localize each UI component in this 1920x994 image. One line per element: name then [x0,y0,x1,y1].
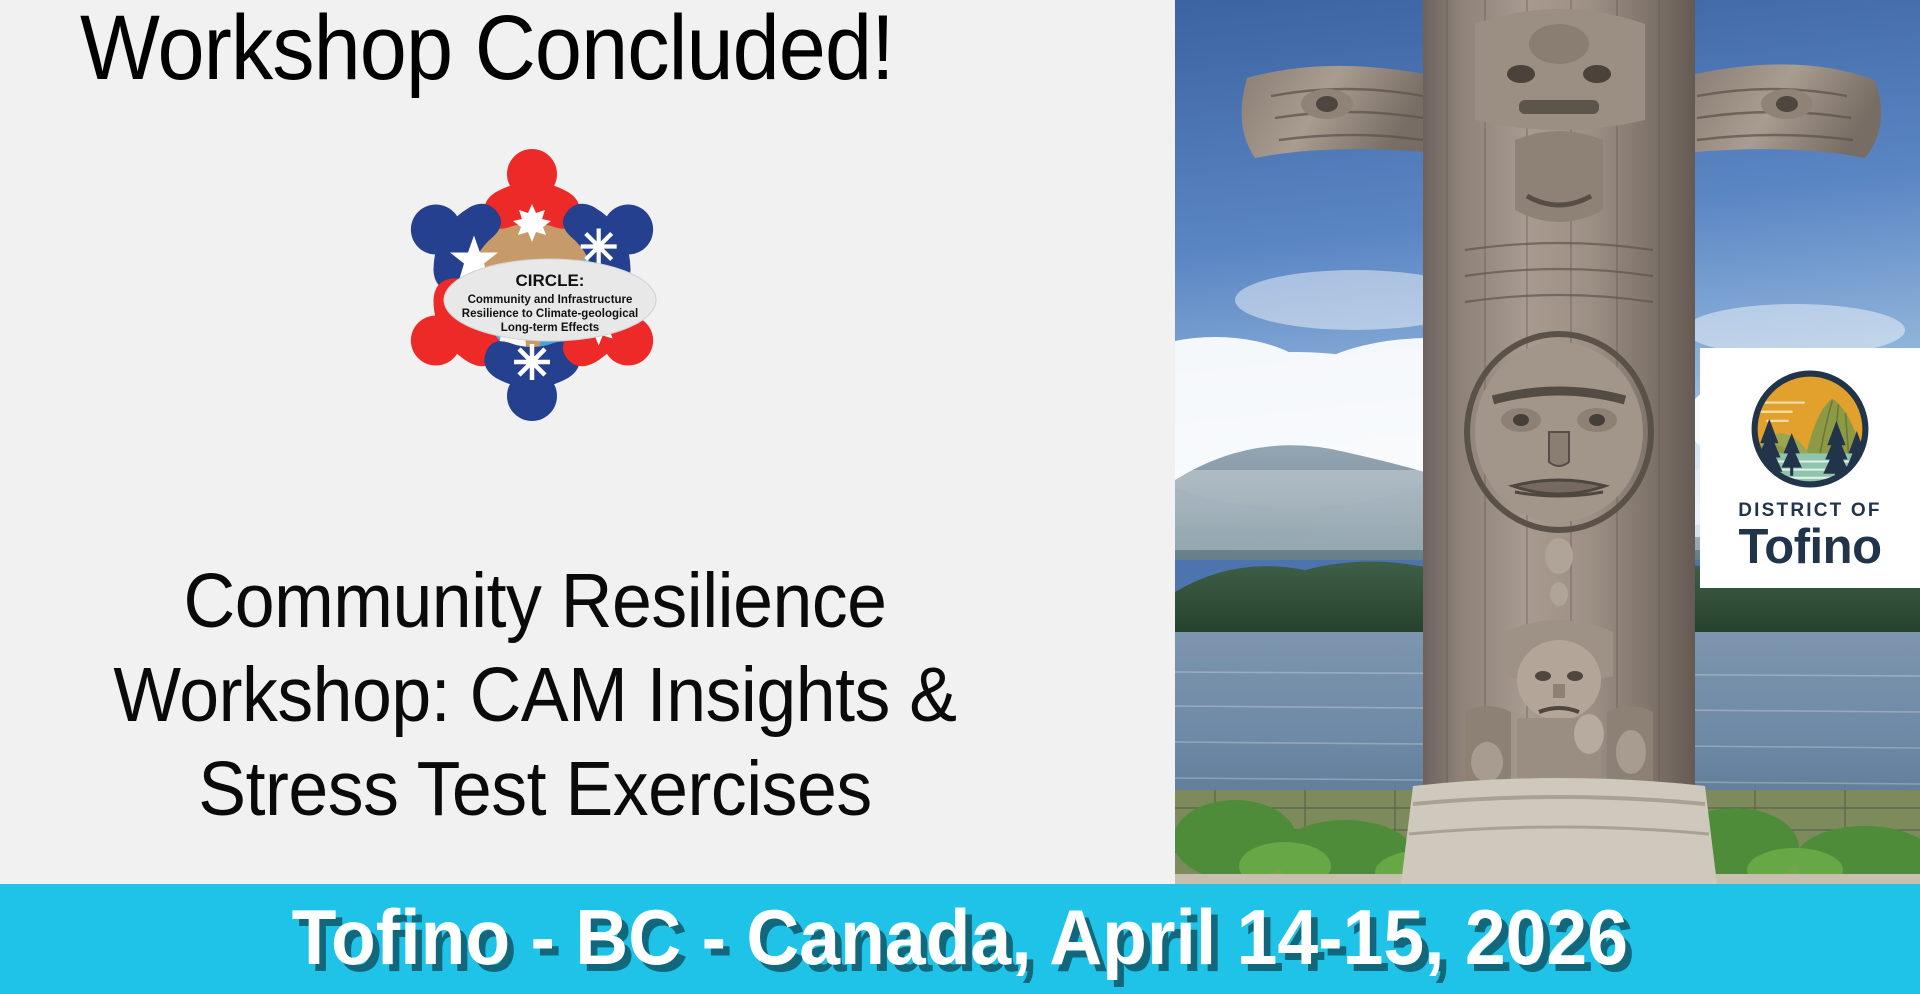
poster-root: Workshop Concluded! [0,0,1920,994]
workshop-title-line-2: Workshop: CAM Insights & [37,649,1032,743]
tofino-crest-icon [1749,368,1871,490]
workshop-title-line-3: Stress Test Exercises [37,743,1032,837]
event-banner: Tofino - BC - Canada, April 14-15, 2026 [0,884,1920,994]
circle-expansion-line-2: Resilience to Climate-geological [462,308,638,320]
page-title: Workshop Concluded! [80,2,1055,96]
circle-acronym: CIRCLE: [516,271,585,290]
tofino-logo-card: DISTRICT OF Tofino [1700,348,1920,588]
circle-logo-icon: CIRCLE: Community and Infrastructure Res… [372,128,692,438]
tofino-kicker: DISTRICT OF [1738,501,1881,520]
circle-logo: CIRCLE: Community and Infrastructure Res… [372,128,692,438]
event-location-date: Tofino - BC - Canada, April 14-15, 2026 [292,898,1628,976]
tofino-wordmark: Tofino [1738,523,1881,572]
workshop-title: Community Resilience Workshop: CAM Insig… [37,555,1032,837]
circle-expansion-line-1: Community and Infrastructure [468,294,633,306]
circle-expansion-line-3: Long-term Effects [501,322,599,334]
workshop-title-line-1: Community Resilience [37,555,1032,649]
left-content-panel: Workshop Concluded! [0,0,1175,884]
